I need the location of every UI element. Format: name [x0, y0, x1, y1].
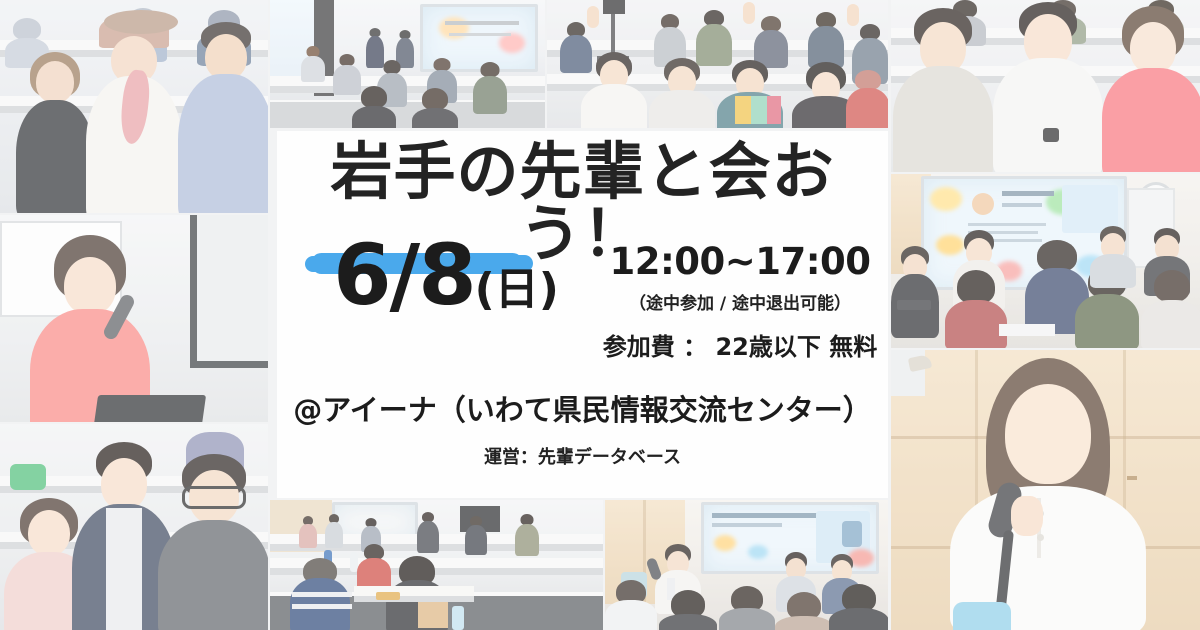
event-day-of-week: (日): [475, 264, 559, 315]
photo-group-waving-hands: [547, 0, 888, 128]
photo-panel-discussion-screen: [891, 174, 1200, 348]
event-fee: 参加費 ： 22歳以下 無料: [595, 327, 885, 362]
photo-three-attendees-smiling: [0, 424, 268, 630]
event-details-block: 12:00~17:00 （途中参加 / 途中退出可能） 参加費 ： 22歳以下 …: [595, 243, 885, 362]
info-panel: 岩手の先輩と会おう！ 6/8(日) 12:00~17:00 （途中参加 / 途中…: [277, 131, 888, 498]
event-venue: @アイーナ（いわて県民情報交流センター）: [277, 387, 888, 429]
photo-group-peace-sign: [0, 0, 268, 213]
photo-three-speakers-seated: [891, 0, 1200, 172]
event-time-note: （途中参加 / 途中退出可能）: [595, 289, 885, 314]
photo-classroom-seated-backs: [270, 500, 603, 630]
event-organizer: 運営：先輩データベース: [277, 443, 888, 469]
photo-woman-speaking-mic: [891, 350, 1200, 630]
photo-woman-with-microphone: [0, 215, 268, 422]
event-date-line: 6/8(日): [333, 233, 559, 317]
event-time-range: 12:00~17:00: [595, 243, 885, 282]
photo-lecture-room-wide: [270, 0, 545, 128]
photo-talk-session-projector: [605, 500, 888, 630]
event-date-block: 6/8(日): [291, 233, 601, 317]
poster-canvas: 岩手の先輩と会おう！ 6/8(日) 12:00~17:00 （途中参加 / 途中…: [0, 0, 1200, 630]
event-date: 6/8: [333, 226, 475, 324]
